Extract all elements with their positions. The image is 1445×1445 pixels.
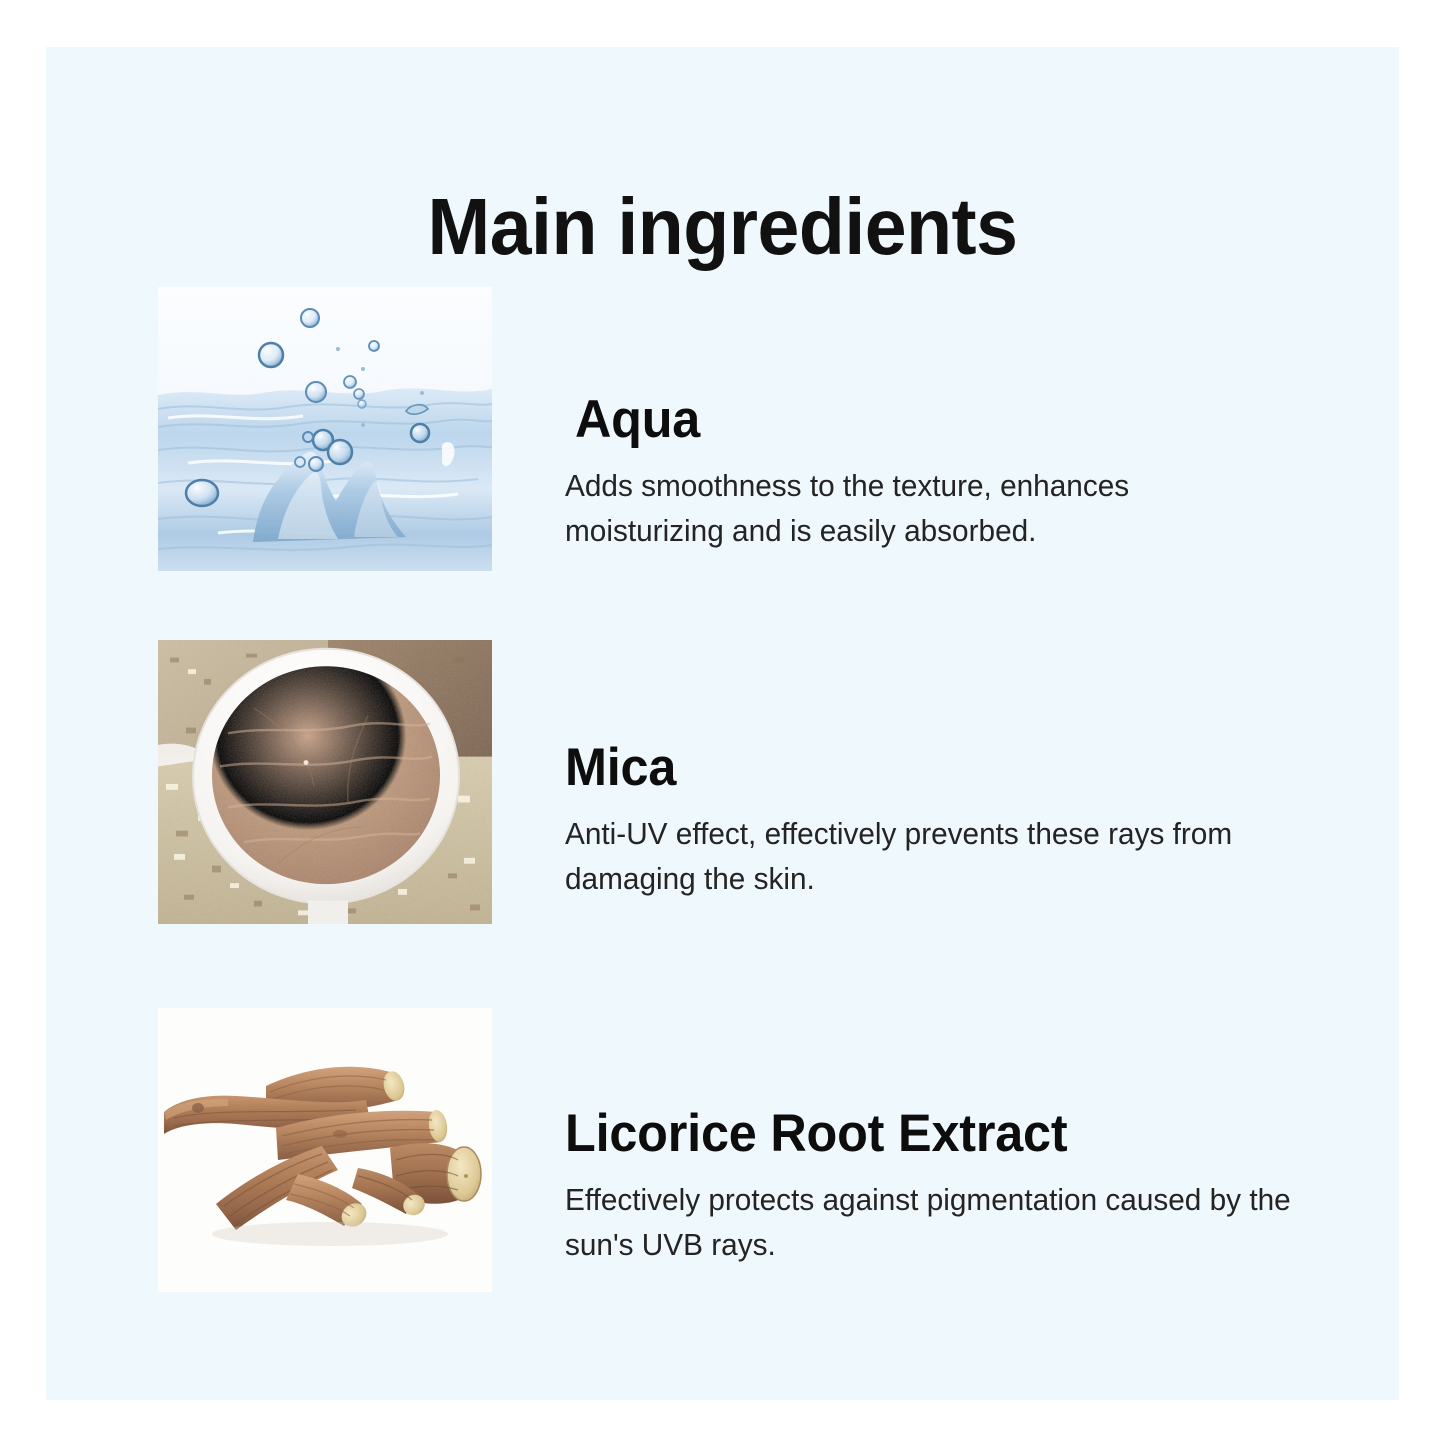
ingredient-image-aqua: [158, 287, 492, 571]
ingredient-text-mica: Mica Anti-UV effect, effectively prevent…: [565, 740, 1365, 902]
ingredient-image-mica: [158, 640, 492, 924]
ingredient-description: Effectively protects against pigmentatio…: [565, 1178, 1295, 1268]
ingredient-row-mica: Mica Anti-UV effect, effectively prevent…: [46, 640, 1399, 940]
ingredient-description: Anti-UV effect, effectively prevents the…: [565, 812, 1295, 902]
ingredient-row-aqua: Aqua Adds smoothness to the texture, enh…: [46, 287, 1399, 587]
mica-powder-icon: [158, 640, 492, 924]
page-title: Main ingredients: [87, 187, 1359, 267]
ingredient-image-licorice: [158, 1008, 492, 1292]
ingredient-name: Licorice Root Extract: [565, 1106, 1325, 1162]
ingredient-text-licorice: Licorice Root Extract Effectively protec…: [565, 1106, 1365, 1268]
ingredient-row-licorice: Licorice Root Extract Effectively protec…: [46, 1008, 1399, 1308]
content-panel: Main ingredients: [46, 47, 1399, 1400]
ingredient-description: Adds smoothness to the texture, enhances…: [565, 464, 1295, 554]
ingredient-text-aqua: Aqua Adds smoothness to the texture, enh…: [565, 392, 1365, 554]
ingredient-name: Mica: [565, 740, 1325, 796]
ingredient-name: Aqua: [575, 392, 1326, 448]
water-splash-icon: [158, 287, 492, 571]
ingredients-infographic: Main ingredients: [0, 0, 1445, 1445]
licorice-root-icon: [158, 1008, 492, 1292]
